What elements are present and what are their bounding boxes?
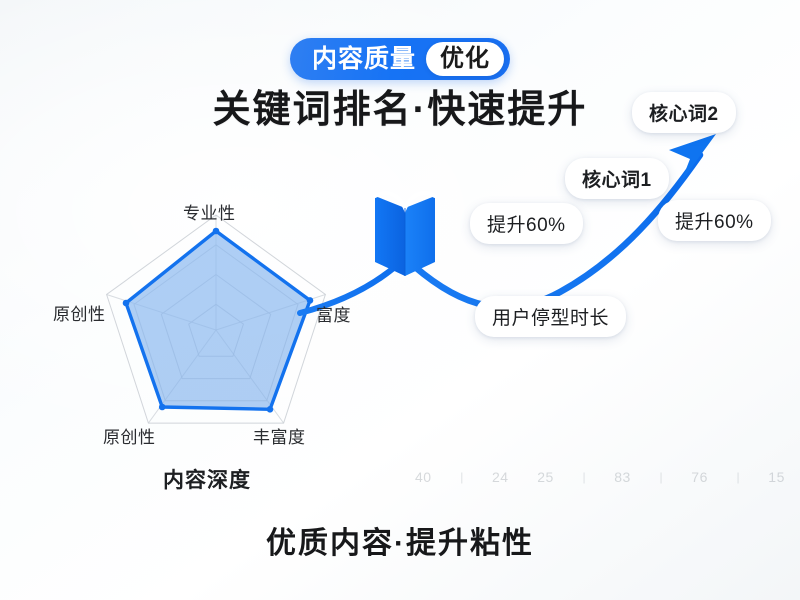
tick-item: 76 (691, 469, 708, 485)
pill-dwell-time[interactable]: 用户停型时长 (475, 296, 626, 337)
tick-item: 15 (768, 469, 785, 485)
tick-item: 83 (614, 469, 631, 485)
badge-main-label: 内容质量 (312, 47, 426, 72)
faint-tick-row: 40 | 24 25 | 83 | 76 | 15 (415, 466, 785, 488)
tick-item: | (737, 470, 740, 484)
content-depth-label: 内容深度 (163, 464, 251, 494)
poster-canvas: 内容质量 优化 关键词排名·快速提升 专业性 富度 丰富度 原创性 原创性 内容… (0, 0, 800, 600)
pill-dwell-time-label: 用户停型时长 (492, 303, 609, 330)
pill-core-keyword-2-label: 核心词2 (649, 99, 719, 126)
pill-core-keyword-2[interactable]: 核心词2 (632, 92, 736, 133)
tick-item: | (460, 470, 463, 484)
radar-axis-label-right: 富度 (316, 301, 351, 326)
header-badge: 内容质量 优化 (0, 38, 800, 80)
radar-axis-label-left: 原创性 (53, 300, 106, 325)
pill-core-keyword-1-label: 核心词1 (582, 165, 652, 192)
tick-item: 24 (492, 469, 509, 485)
pill-uplift-left-label: 提升60% (487, 210, 566, 237)
pill-uplift-right[interactable]: 提升60% (658, 200, 771, 241)
radar-axis-label-bottom-right: 丰富度 (253, 423, 306, 448)
radar-axis-label-top: 专业性 (183, 199, 236, 224)
pill-core-keyword-1[interactable]: 核心词1 (565, 158, 669, 199)
quality-badge[interactable]: 内容质量 优化 (290, 38, 510, 80)
tick-item: 25 (537, 469, 554, 485)
pill-uplift-right-label: 提升60% (675, 207, 754, 234)
tick-item: | (660, 470, 663, 484)
footer-title: 优质内容·提升粘性 (0, 518, 800, 562)
badge-chip-label: 优化 (426, 42, 504, 76)
tick-item: 40 (415, 469, 432, 485)
tick-item: | (582, 470, 585, 484)
radar-axis-label-bottom-left: 原创性 (103, 423, 156, 448)
pill-uplift-left[interactable]: 提升60% (470, 203, 583, 244)
